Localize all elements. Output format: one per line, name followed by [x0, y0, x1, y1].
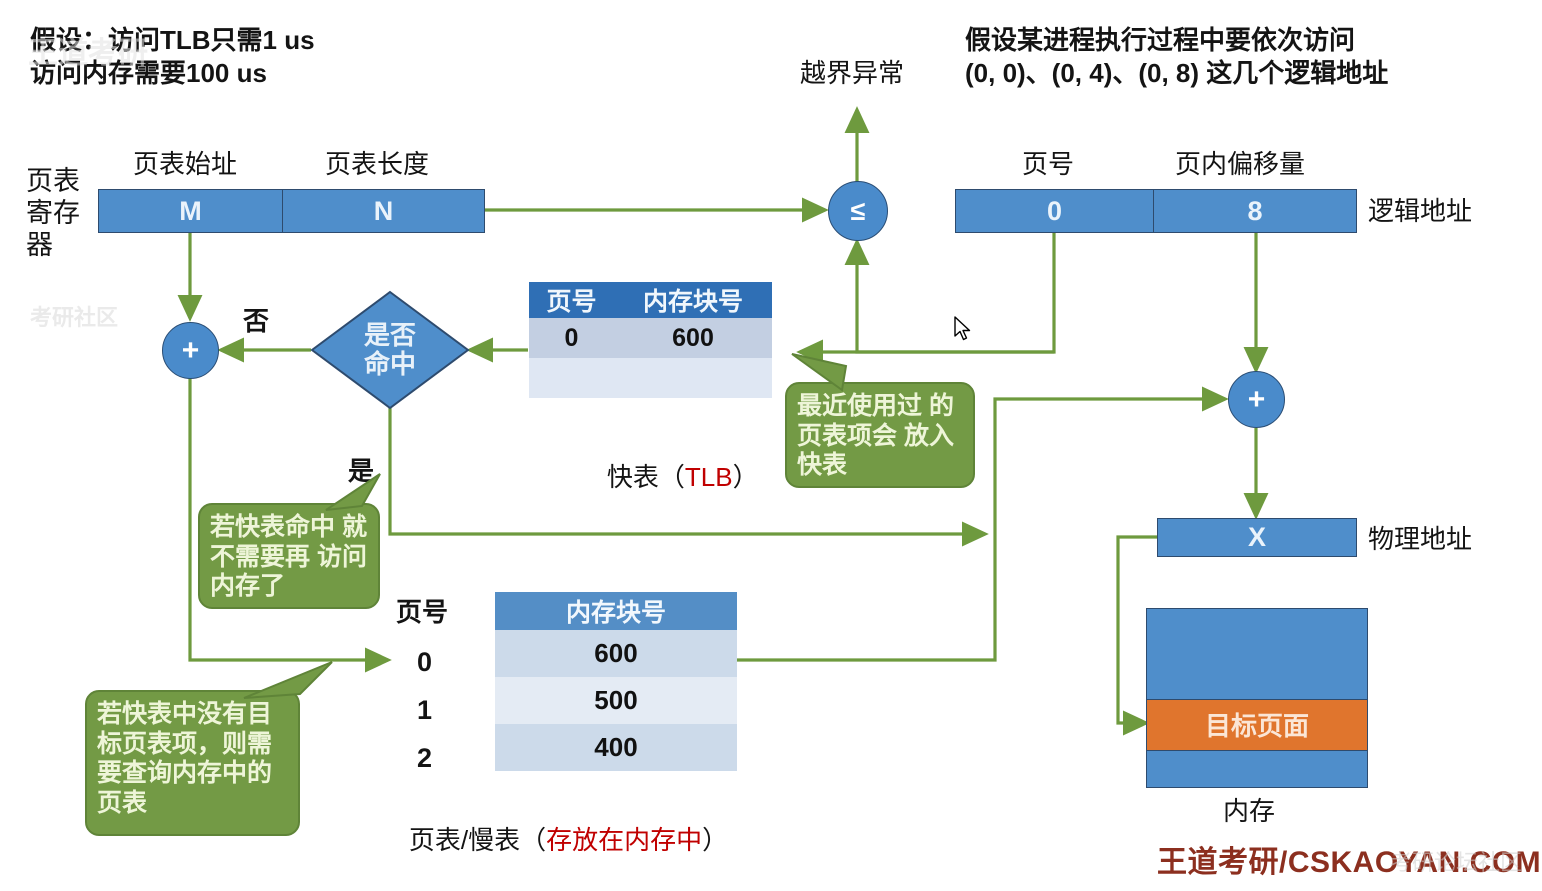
page-table-caption-prefix: 页表/慢表（: [409, 825, 546, 855]
tlb-cell-page-0[interactable]: 0: [529, 318, 614, 358]
memory-block[interactable]: [1146, 608, 1368, 788]
adder-right[interactable]: +: [1228, 371, 1285, 428]
page-table-register-box[interactable]: M N: [98, 189, 485, 233]
logical-address-side-label: 逻辑地址: [1368, 195, 1472, 228]
tlb-caption-suffix: ）: [733, 462, 759, 492]
callout-tlb-miss-tail: [240, 660, 335, 700]
tlb-caption: 快表（TLB）: [578, 428, 759, 528]
page-table-caption-suffix: ）: [702, 825, 728, 855]
tlb-header-page-number: 页号: [529, 282, 614, 318]
compare-node[interactable]: ≤: [828, 181, 888, 241]
callout-tlb-fill: 最近使用过 的页表项会 放入快表: [785, 382, 975, 488]
callout-tlb-hit: 若快表命中 就不需要再 访问内存了: [198, 503, 380, 609]
branch-label-no: 否: [243, 305, 269, 338]
callout-tlb-hit-tail: [322, 472, 384, 512]
page-table-header-frame-number: 内存块号: [495, 592, 737, 630]
page-table-header-row: 内存块号: [495, 592, 737, 630]
page-table-index-label: 页号: [396, 596, 448, 629]
physical-address-side-label: 物理地址: [1368, 523, 1472, 556]
logical-page-number-label: 页号: [1022, 148, 1074, 181]
assumption-note-right: 假设某进程执行过程中要依次访问 (0, 0)、(0, 4)、(0, 8) 这几个…: [965, 24, 1388, 91]
tlb-row-1[interactable]: [529, 358, 772, 398]
page-table-start-address-label: 页表始址: [133, 148, 237, 181]
mouse-cursor: [954, 316, 974, 342]
tlb-header-row: 页号 内存块号: [529, 282, 772, 318]
physical-address-cell[interactable]: X: [1158, 519, 1356, 556]
tlb-caption-red: TLB: [685, 462, 733, 492]
physical-address-box[interactable]: X: [1157, 518, 1357, 557]
memory-target-page[interactable]: 目标页面: [1147, 699, 1367, 750]
tlb-cell-page-1[interactable]: [529, 358, 614, 398]
memory-divider-top: [1147, 699, 1367, 700]
page-table-row-1[interactable]: 500: [495, 677, 737, 724]
tlb-table[interactable]: 页号 内存块号 0 600: [529, 282, 772, 398]
diagram-canvas: 假设：访问TLB只需1 us 访问内存需要100 us 假设某进程执行过程中要依…: [0, 0, 1542, 872]
faint-watermark: 考研论坛社区: [1390, 845, 1522, 877]
page-table-frame-1[interactable]: 500: [495, 677, 737, 724]
page-table-index-1: 1: [417, 693, 432, 728]
logical-address-box[interactable]: 0 8: [955, 189, 1357, 233]
tlb-caption-prefix: 快表（: [607, 462, 685, 492]
page-table-frame-2[interactable]: 400: [495, 724, 737, 771]
watermark-ghost-left: 王道考研: [28, 28, 148, 72]
callout-tlb-fill-tail: [790, 352, 850, 392]
page-table[interactable]: 内存块号 600 500 400: [495, 592, 737, 771]
ptr-start-address-cell[interactable]: M: [99, 190, 283, 232]
memory-caption: 内存: [1223, 795, 1275, 828]
tlb-cell-frame-0[interactable]: 600: [614, 318, 772, 358]
callout-tlb-miss: 若快表中没有目 标页表项，则需 要查询内存中的 页表: [85, 690, 300, 836]
out-of-bounds-exception-label: 越界异常: [800, 57, 904, 90]
decision-line1: 是否: [364, 321, 416, 350]
tlb-row-0[interactable]: 0 600: [529, 318, 772, 358]
logical-offset-label: 页内偏移量: [1175, 148, 1305, 181]
ptr-length-cell[interactable]: N: [283, 190, 484, 232]
adder-left[interactable]: +: [162, 322, 219, 379]
page-table-caption: 页表/慢表（存放在内存中）: [380, 791, 728, 891]
watermark-ghost-mid: 考研社区: [30, 300, 118, 332]
tlb-header-frame-number: 内存块号: [614, 282, 772, 318]
page-table-caption-red: 存放在内存中: [546, 825, 702, 855]
page-table-index-0: 0: [417, 645, 432, 680]
tlb-cell-frame-1[interactable]: [614, 358, 772, 398]
page-table-row-0[interactable]: 600: [495, 630, 737, 677]
tlb-hit-decision[interactable]: 是否 命中: [310, 290, 470, 410]
page-table-row-2[interactable]: 400: [495, 724, 737, 771]
decision-line2: 命中: [364, 350, 416, 379]
logical-offset-cell[interactable]: 8: [1154, 190, 1356, 232]
page-table-register-side-label: 页表 寄存 器: [26, 166, 80, 262]
logical-page-number-cell[interactable]: 0: [956, 190, 1154, 232]
memory-divider-bottom: [1147, 750, 1367, 751]
page-table-index-2: 2: [417, 741, 432, 776]
page-table-frame-0[interactable]: 600: [495, 630, 737, 677]
decision-text: 是否 命中: [310, 290, 470, 410]
page-table-length-label: 页表长度: [325, 148, 429, 181]
